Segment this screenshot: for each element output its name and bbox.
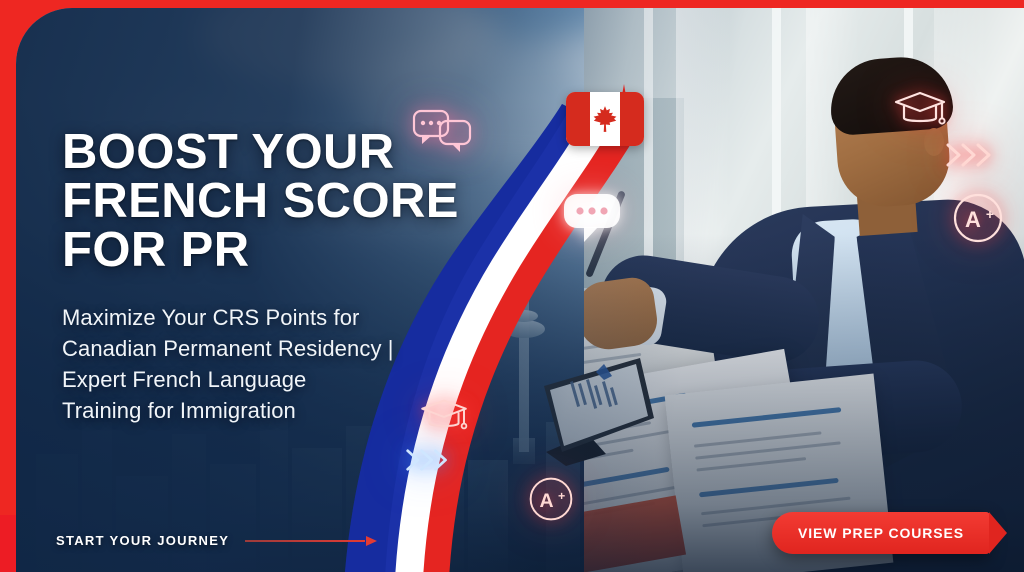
start-journey-label: START YOUR JOURNEY [56, 533, 229, 548]
view-prep-courses-label: VIEW PREP COURSES [798, 525, 964, 541]
flag-band-left [566, 92, 590, 146]
a-plus-grade-icon: A + [952, 192, 1004, 244]
chevrons-right-icon [404, 446, 452, 474]
speech-bubble-icon [562, 192, 624, 244]
a-plus-grade-icon: A + [528, 476, 574, 522]
page-title: BOOST YOUR FRENCH SCORE FOR PR [62, 128, 532, 275]
svg-text:+: + [558, 489, 565, 503]
canadian-flag-icon [566, 92, 644, 146]
page-subtitle: Maximize Your CRS Points for Canadian Pe… [62, 302, 532, 426]
flag-band-right [620, 92, 644, 146]
hero-copy: BOOST YOUR FRENCH SCORE FOR PR Maximize … [62, 128, 532, 426]
chevrons-right-icon [944, 140, 996, 170]
graduation-cap-icon [892, 88, 948, 132]
start-journey-cta[interactable]: START YOUR JOURNEY [56, 533, 377, 548]
hero-banner: A + A + BOOST YOUR FRENCH SCORE FOR PR M… [0, 0, 1024, 572]
flag-field [590, 92, 620, 146]
svg-text:+: + [986, 206, 994, 222]
svg-text:A: A [965, 207, 981, 232]
view-prep-courses-button[interactable]: VIEW PREP COURSES [772, 512, 990, 554]
svg-text:A: A [540, 490, 554, 512]
maple-leaf-icon [592, 105, 618, 133]
arrow-right-icon [245, 536, 377, 546]
